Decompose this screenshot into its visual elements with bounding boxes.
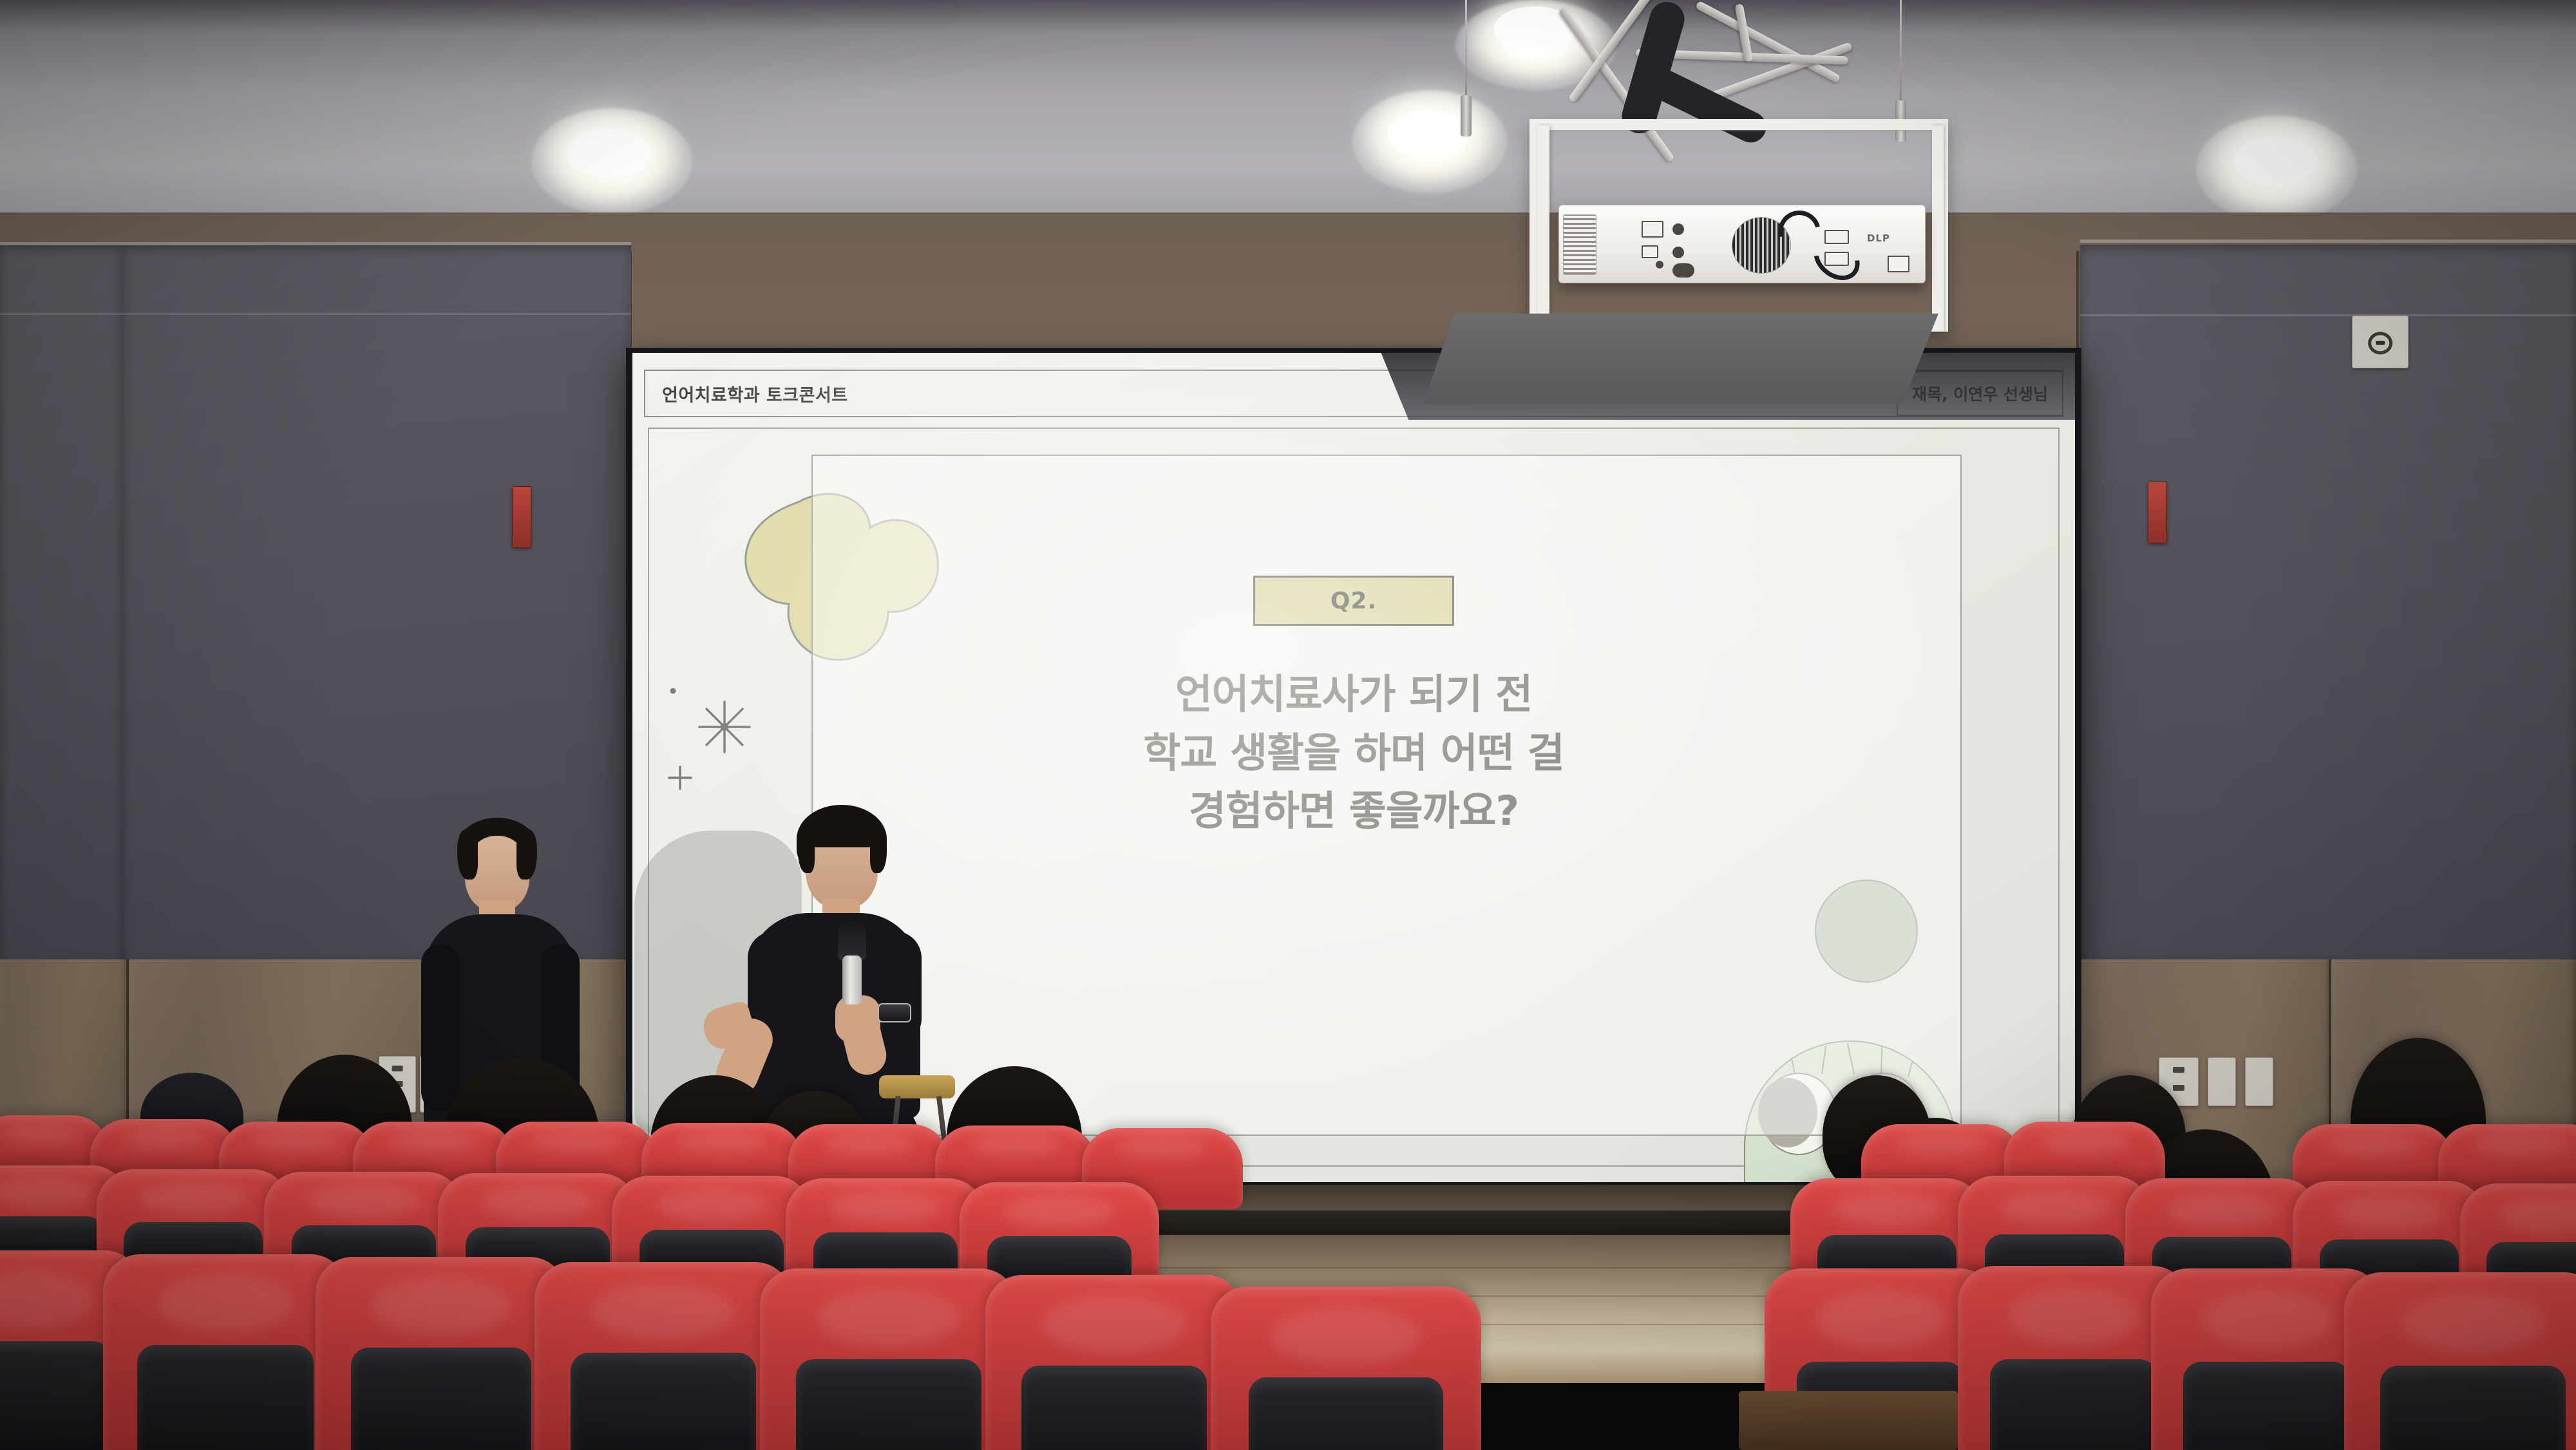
usb-port [1642, 245, 1658, 258]
wristwatch [878, 1003, 911, 1022]
seat[interactable] [535, 1262, 792, 1450]
projector-body: DLP [1558, 205, 1926, 283]
question-number-badge: Q2. [1253, 576, 1454, 626]
projector-logo: DLP [1867, 232, 1890, 244]
slide-header-title: 언어치료학과 토크콘서트 [645, 381, 848, 406]
projector-rig: DLP [1423, 0, 1951, 451]
fire-alarm-box [512, 486, 531, 548]
lan-port [1642, 221, 1663, 238]
seat[interactable] [316, 1257, 567, 1450]
dark-wall-panel [0, 245, 122, 959]
seat-row-base [1739, 1391, 1958, 1450]
seat[interactable] [985, 1275, 1243, 1450]
fire-alarm-box [2148, 482, 2167, 543]
audience-seating [0, 1082, 2576, 1450]
volume-control-plate[interactable] [2352, 315, 2409, 368]
projector-grille [1563, 214, 1596, 275]
ceiling [0, 0, 2576, 232]
question-number-label: Q2. [1331, 588, 1377, 614]
turnbuckle [1461, 95, 1472, 137]
microphone [838, 918, 866, 961]
seat[interactable] [2344, 1272, 2576, 1450]
seat[interactable] [760, 1268, 1018, 1450]
mount-plate [1423, 314, 1938, 404]
dark-wall-panel [2080, 245, 2576, 959]
question-line-2: 학교 생활을 하며 어떤 걸 [649, 724, 2058, 783]
control-knob-icon[interactable] [2368, 332, 2392, 354]
auditorium-scene: 언어치료학과 토크콘서트 재목, 이연우 선생님 [0, 0, 2576, 1450]
seat[interactable] [103, 1254, 348, 1450]
seat[interactable] [1211, 1286, 1481, 1450]
power-socket [1888, 256, 1909, 272]
question-line-1: 언어치료사가 되기 전 [649, 666, 2058, 724]
microphone-handle [842, 956, 862, 1004]
hair-side [516, 829, 537, 880]
hair-side [457, 829, 478, 880]
